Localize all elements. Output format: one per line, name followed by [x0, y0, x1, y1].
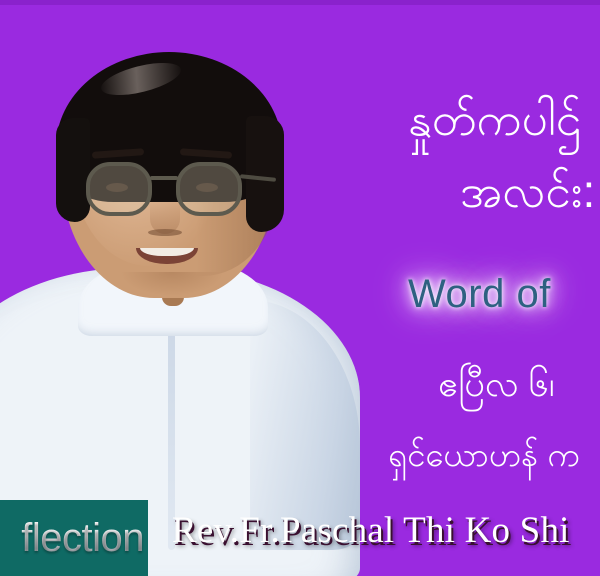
eyeglasses-lens-right — [176, 162, 242, 216]
title-text-column: နှုတ်ကပါဌ် အလင်း: Word of ဧပြီလ ၆၊ ရှင်ယ… — [350, 0, 600, 576]
reflection-badge: flection — [0, 500, 148, 576]
burmese-title-line-2: အလင်း: — [460, 168, 595, 214]
reflection-badge-label: flection — [21, 516, 144, 561]
nostrils — [148, 229, 182, 236]
presenter-portrait — [0, 0, 360, 576]
hair-right-side — [246, 116, 284, 232]
burmese-scripture-reference: ရှင်ယောဟန် က — [388, 438, 580, 471]
burmese-title-line-1: နှုတ်ကပါဌ် — [408, 96, 581, 142]
burmese-date: ဧပြီလ ၆၊ — [438, 366, 555, 402]
english-title: Word of — [408, 272, 551, 317]
presenter-name: Rev.Fr.Paschal Thi Ko Shi — [172, 509, 570, 552]
thumbnail-canvas: flection နှုတ်ကပါဌ် အလင်း: Word of ဧပြီလ… — [0, 0, 600, 576]
chin-shading — [120, 272, 224, 296]
eyeglasses-lens-left — [86, 162, 152, 216]
hair-left-side — [56, 118, 90, 222]
eyeglasses-bridge — [150, 176, 178, 180]
